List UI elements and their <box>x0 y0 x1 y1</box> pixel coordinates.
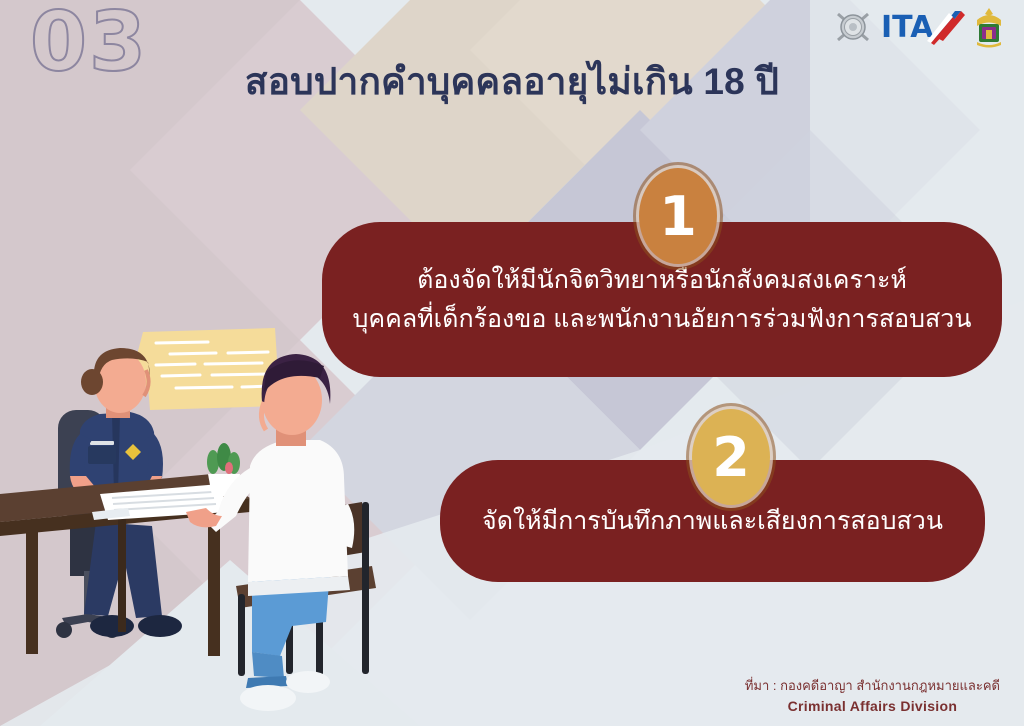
royal-thai-police-emblem-icon <box>832 6 874 48</box>
thai-royal-emblem-icon <box>972 6 1006 48</box>
svg-text:ITA: ITA <box>881 10 934 45</box>
source-credit-thai: ที่มา : กองคดีอาญา สำนักงานกฎหมายและคดี <box>745 677 1000 696</box>
logo-group: ITA <box>832 6 1006 48</box>
step-badge-1: 1 <box>639 168 717 264</box>
source-credit: ที่มา : กองคดีอาญา สำนักงานกฎหมายและคดี … <box>745 677 1000 716</box>
slide-canvas: 03 สอบปากคำบุคคลอายุไม่เกิน 18 ปี ITA <box>0 0 1024 726</box>
step-badge-2: 2 <box>692 409 770 505</box>
card-1-line-2: บุคคลที่เด็กร้องขอ และพนักงานอัยการร่วมฟ… <box>353 300 972 339</box>
card-2-line-1: จัดให้มีการบันทึกภาพและเสียงการสอบสวน <box>482 502 943 541</box>
card-1-line-1: ต้องจัดให้มีนักจิตวิทยาหรือนักสังคมสงเคร… <box>353 261 972 300</box>
page-title: สอบปากคำบุคคลอายุไม่เกิน 18 ปี <box>0 52 1024 111</box>
source-credit-english: Criminal Affairs Division <box>745 696 1000 716</box>
ita-logo: ITA <box>881 7 965 47</box>
police-interview-illustration <box>0 326 400 726</box>
